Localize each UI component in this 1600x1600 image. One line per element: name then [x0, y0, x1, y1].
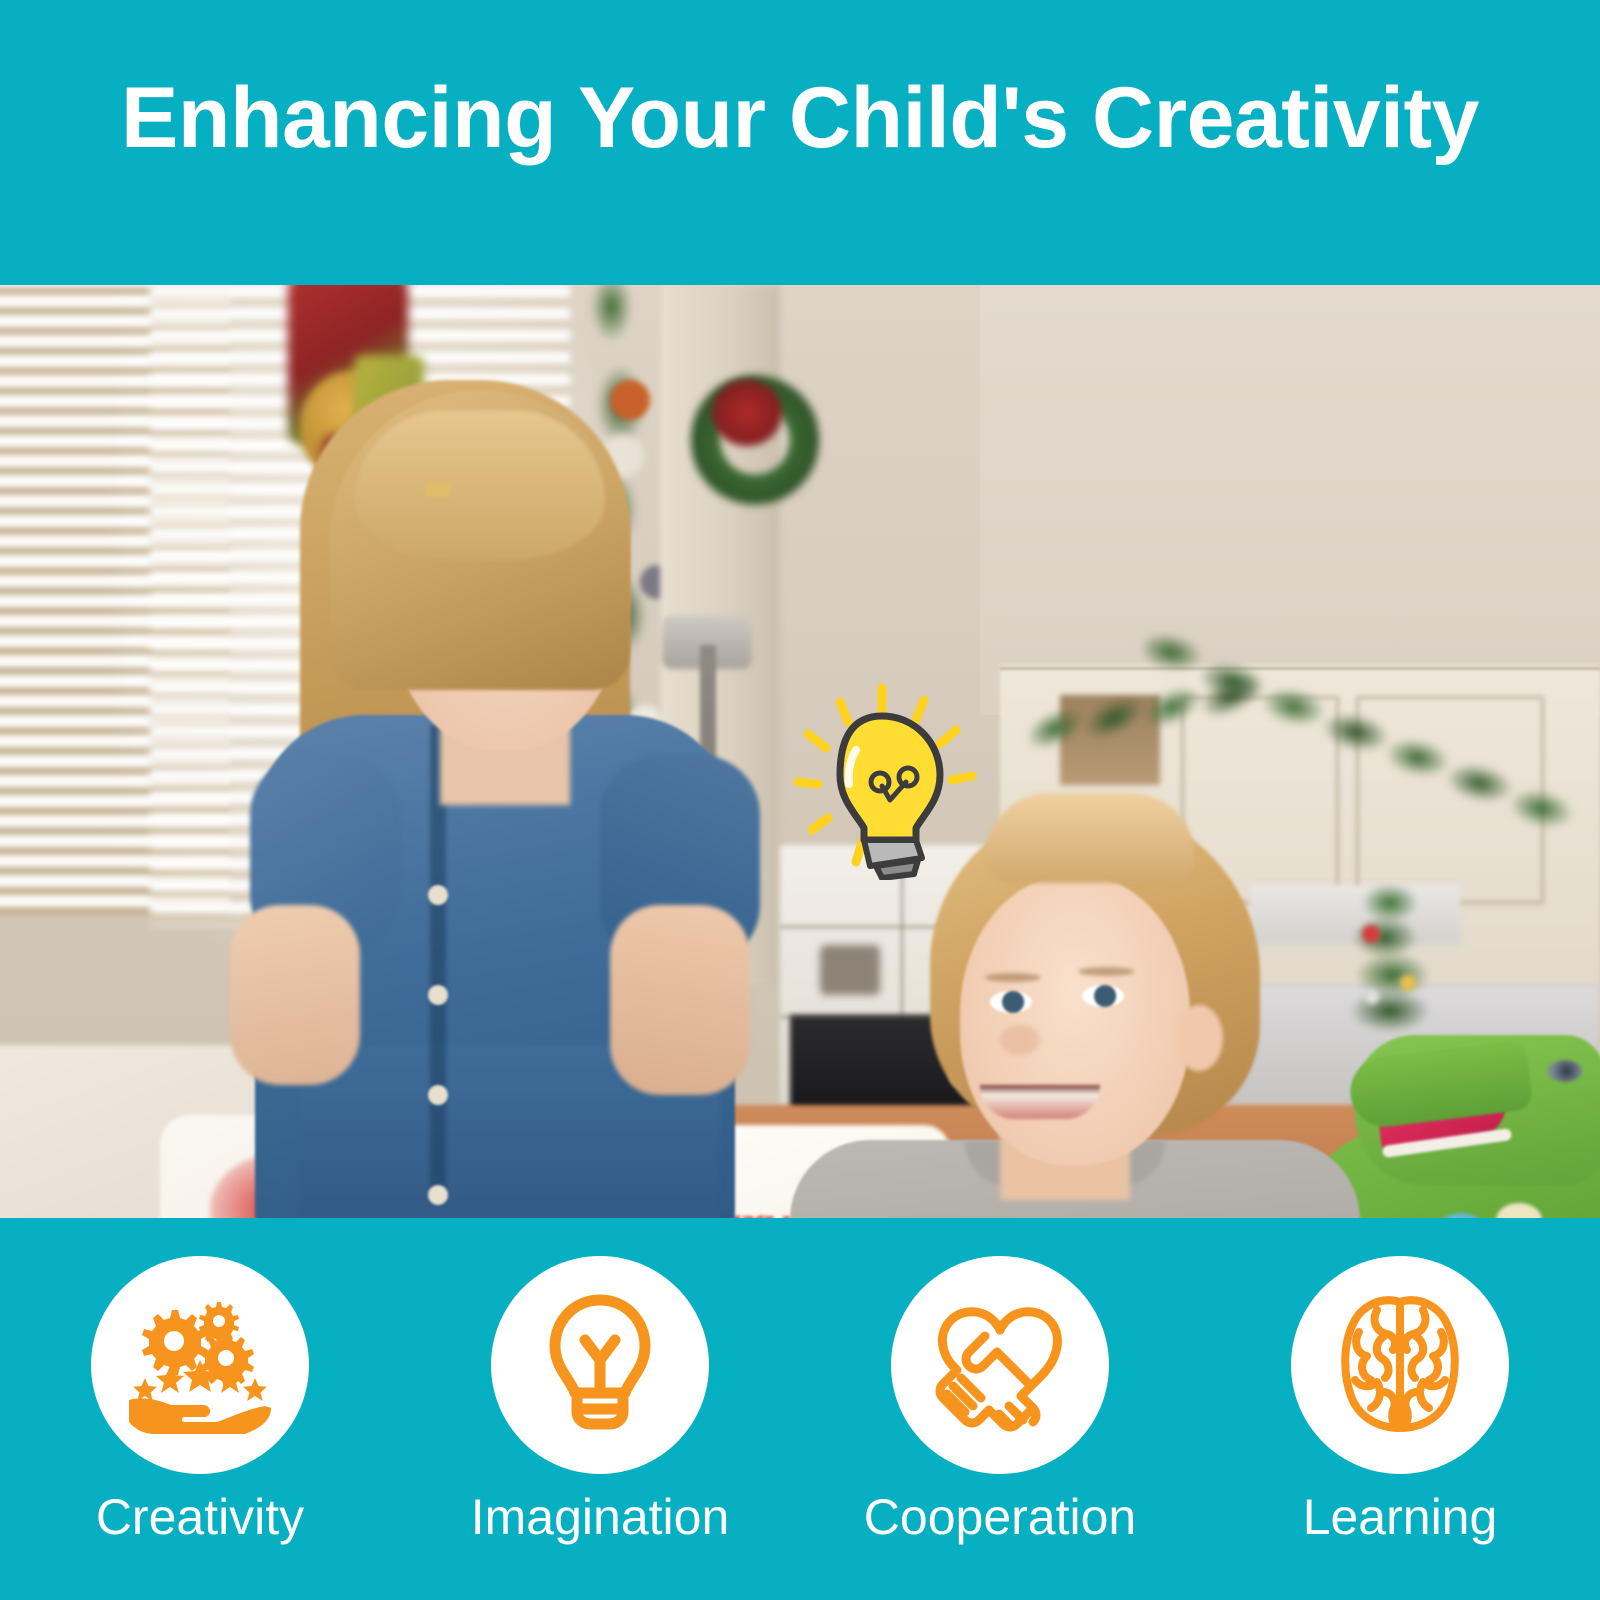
- girl-hair-fringe: [355, 410, 605, 560]
- boy-ear: [1175, 1005, 1223, 1071]
- boy-eye-left: [990, 991, 1032, 1013]
- girl-dress-button-2: [428, 985, 448, 1005]
- heart-handshake-icon: [925, 1288, 1075, 1443]
- feature-label-imagination: Imagination: [471, 1492, 730, 1542]
- lightbulb-icon: [525, 1288, 675, 1443]
- boy-hair-fringe: [985, 793, 1195, 883]
- tree-bauble-gold: [1400, 975, 1416, 991]
- feature-band: Creativity: [0, 1218, 1600, 1600]
- shelf-object: [820, 945, 880, 995]
- tree-bauble-silver: [1365, 990, 1379, 1004]
- girl-dress-button-4: [428, 1185, 448, 1205]
- girl-arm-left: [230, 905, 360, 1085]
- feature-icon-circle-cooperation: [891, 1256, 1109, 1474]
- feature-item-cooperation[interactable]: Cooperation: [835, 1256, 1165, 1542]
- header-band: Enhancing Your Child's Creativity: [0, 0, 1600, 285]
- dinosaur-eye: [1548, 1060, 1582, 1082]
- girl-arm-right: [610, 905, 750, 1095]
- feature-list: Creativity: [0, 1218, 1600, 1600]
- tree-bauble-red: [1362, 925, 1380, 943]
- mini-christmas-tree: [1330, 885, 1450, 1035]
- girl-hair-clip: [425, 483, 451, 497]
- garland-bauble-orange-1: [610, 380, 650, 420]
- feature-label-creativity: Creativity: [96, 1492, 304, 1542]
- feature-item-learning[interactable]: Learning: [1235, 1256, 1565, 1542]
- boy-eyebrow-left: [985, 973, 1041, 982]
- girl-dress-button-1: [428, 885, 448, 905]
- feature-label-learning: Learning: [1303, 1492, 1498, 1542]
- hero-photo: erry m ★ ★: [0, 285, 1600, 1218]
- feature-item-creativity[interactable]: Creativity: [35, 1256, 365, 1542]
- feature-icon-circle-learning: [1291, 1256, 1509, 1474]
- boy-nose: [1000, 1025, 1040, 1055]
- lightbulb-idea-icon: [790, 680, 980, 880]
- page-title: Enhancing Your Child's Creativity: [121, 75, 1479, 161]
- girl-dress-button-3: [428, 1085, 448, 1105]
- boy-eyebrow-right: [1078, 967, 1134, 976]
- feature-item-imagination[interactable]: Imagination: [435, 1256, 765, 1542]
- boy-mouth-smile: [980, 1085, 1100, 1119]
- feature-icon-circle-imagination: [491, 1256, 709, 1474]
- wreath-bow: [712, 380, 782, 446]
- hand-gears-stars-icon: [125, 1288, 275, 1443]
- boy-eye-right: [1082, 985, 1124, 1007]
- poster-root: Enhancing Your Child's Creativity: [0, 0, 1600, 1600]
- brain-icon: [1325, 1288, 1475, 1443]
- feature-label-cooperation: Cooperation: [864, 1492, 1136, 1542]
- feature-icon-circle-creativity: [91, 1256, 309, 1474]
- boy-face: [960, 875, 1190, 1165]
